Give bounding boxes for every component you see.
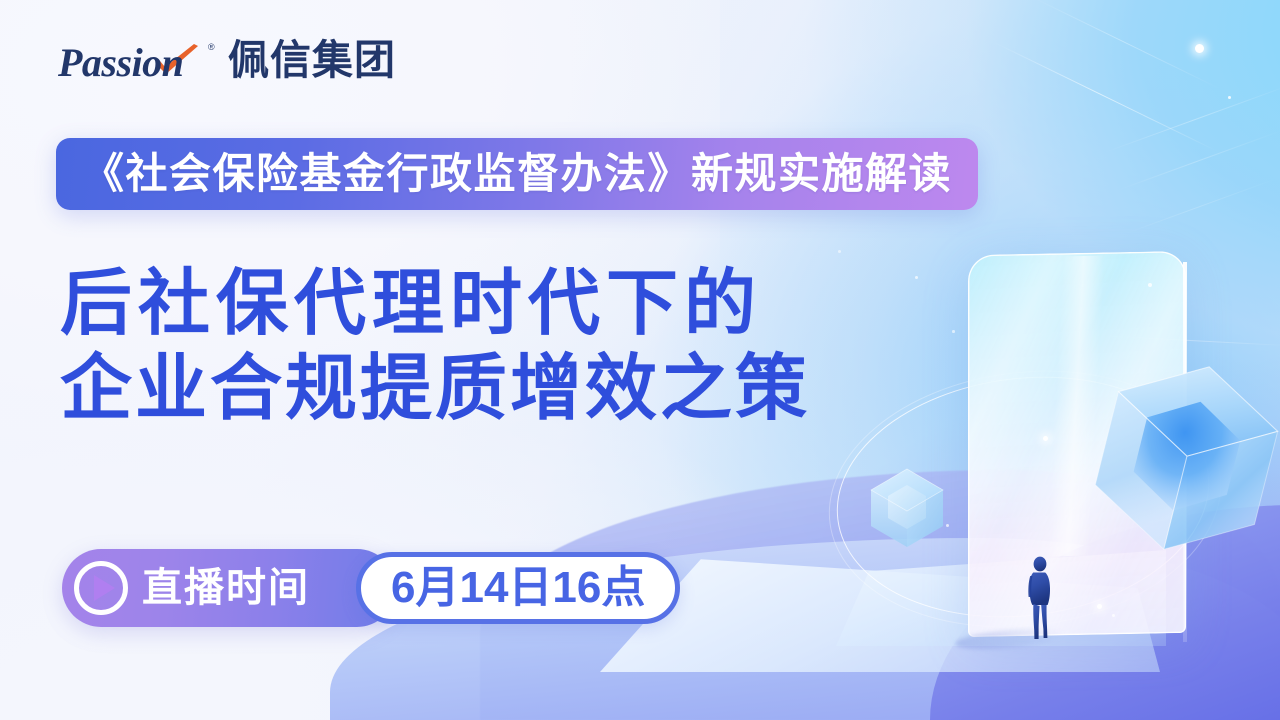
passion-wordmark-text: Passion — [57, 40, 183, 85]
sparkle-dot — [1148, 283, 1152, 287]
cube-icon-large — [1088, 356, 1280, 564]
cube-icon-small — [868, 466, 946, 550]
sparkle-dot — [1043, 436, 1048, 441]
registered-trademark-icon: ® — [208, 42, 215, 52]
live-time-label: 直播时间 — [142, 568, 310, 608]
person-silhouette-icon — [1022, 556, 1058, 640]
headline-line-1: 后社保代理时代下的 — [60, 268, 810, 341]
headline-line-2: 企业合规提质增效之策 — [60, 353, 810, 426]
brand-chinese-name: 佩信集团 — [228, 40, 396, 81]
play-triangle-icon — [94, 575, 115, 601]
live-webinar-poster: Passion ® 佩信集团 《社会保险基金行政监督办法》新规实施解读 后社保代… — [0, 0, 1280, 720]
live-date-text: 6月14日16点 — [391, 566, 645, 610]
live-date-pill: 6月14日16点 — [356, 552, 680, 624]
sparkle-dot — [838, 250, 841, 253]
sparkle-dot — [1195, 44, 1204, 53]
passion-wordmark-icon: Passion — [56, 34, 204, 86]
sparkle-dot — [1228, 96, 1231, 99]
sparkle-dot — [1097, 604, 1102, 609]
regulation-title-text: 《社会保险基金行政监督办法》新规实施解读 — [82, 153, 952, 195]
regulation-title-banner: 《社会保险基金行政监督办法》新规实施解读 — [56, 138, 978, 210]
brand-logo: Passion ® 佩信集团 — [56, 34, 396, 86]
sparkle-dot — [952, 330, 955, 333]
page-title: 后社保代理时代下的 企业合规提质增效之策 — [60, 268, 810, 427]
play-icon[interactable] — [74, 561, 128, 615]
sparkle-dot — [946, 524, 949, 527]
live-time-bar: 直播时间 — [62, 549, 396, 627]
sparkle-dot — [915, 276, 918, 279]
sparkle-dot — [1112, 614, 1115, 617]
